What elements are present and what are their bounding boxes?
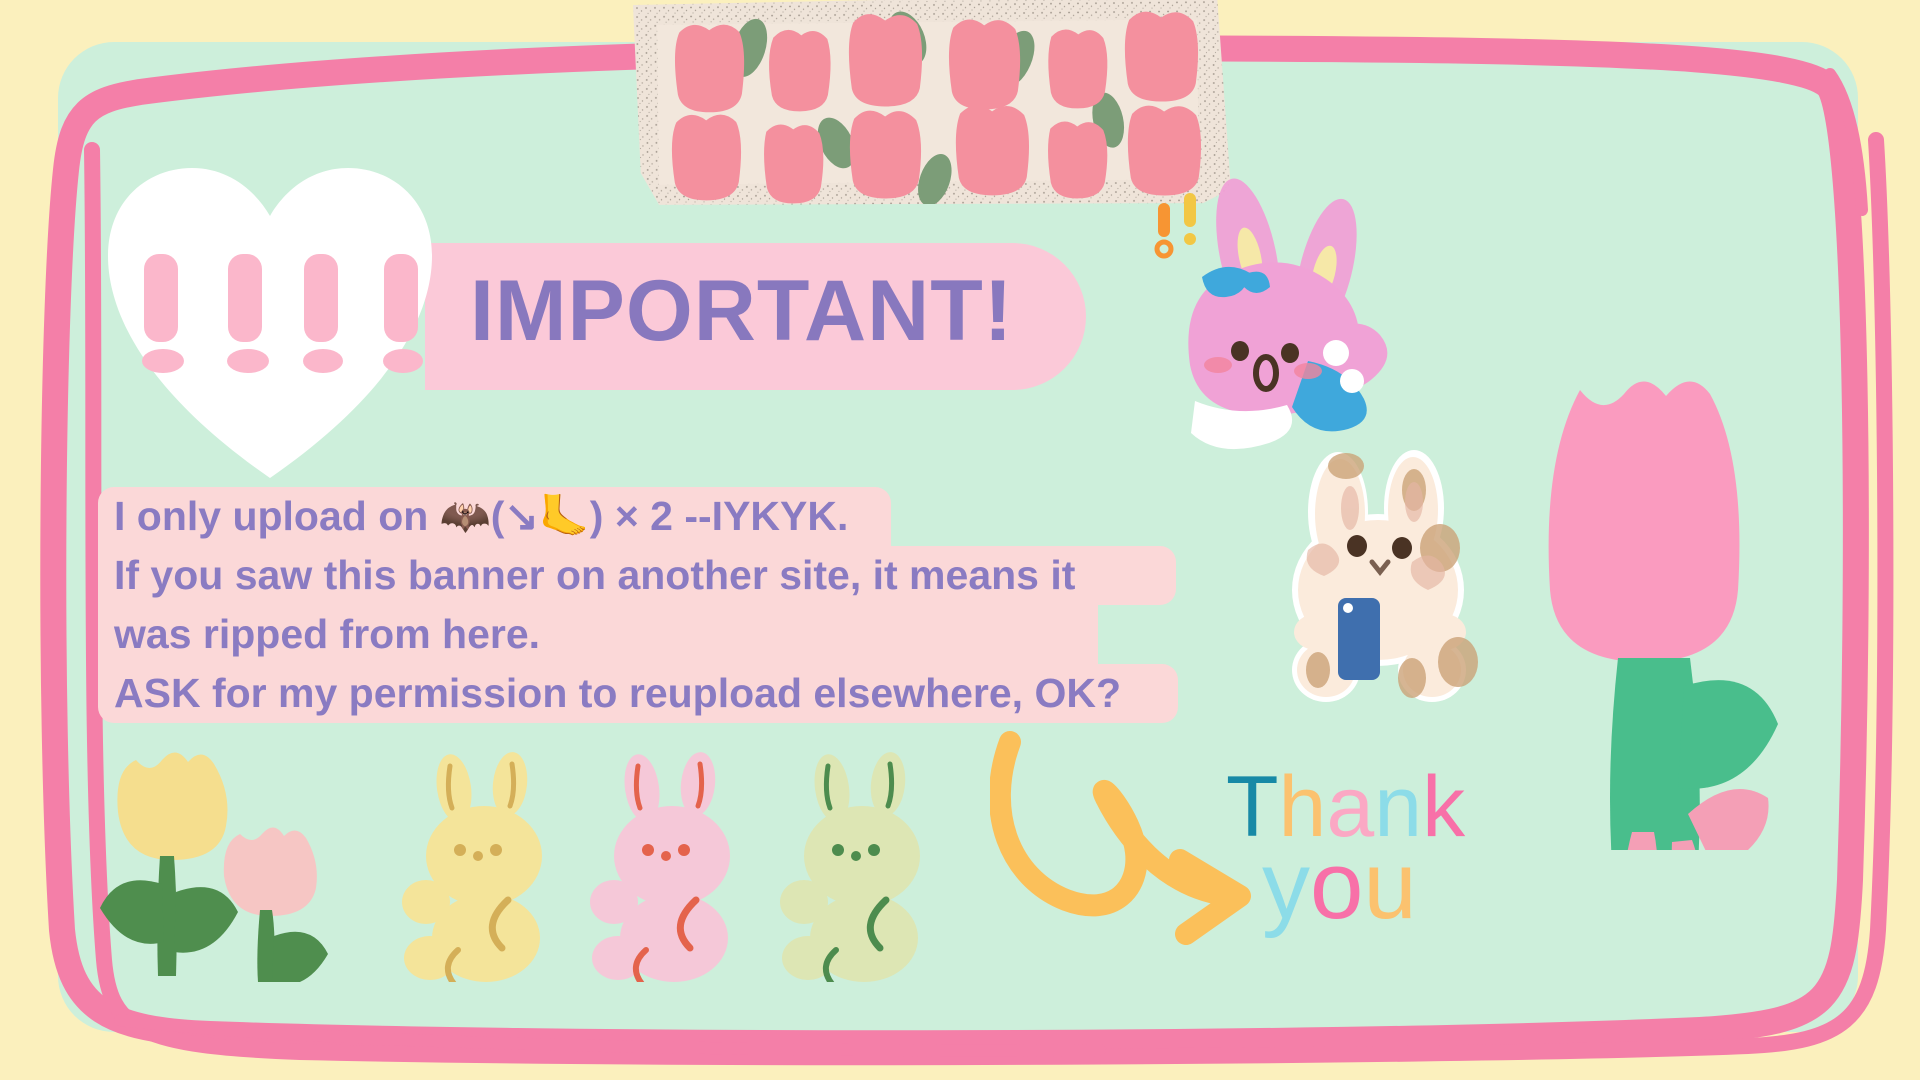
exclamation-marks-icon bbox=[1157, 193, 1196, 256]
ty-letter: k bbox=[1422, 759, 1465, 855]
bunny-green-sticker bbox=[780, 752, 920, 982]
message-line-2: If you saw this banner on another site, … bbox=[98, 546, 1208, 605]
message-line-1: I only upload on 🦇(↘🦶) × 2 --IYKYK. bbox=[98, 487, 1208, 546]
bunny-pink-sticker bbox=[590, 752, 730, 982]
bunny-row bbox=[400, 752, 980, 982]
message-line-3: was ripped from here. bbox=[98, 605, 1208, 664]
ty-letter: u bbox=[1363, 832, 1416, 939]
flying-bunny-sticker bbox=[1140, 165, 1410, 455]
ty-letter: y bbox=[1262, 832, 1310, 939]
white-heart-with-exclamations bbox=[100, 158, 440, 488]
ty-letter: o bbox=[1310, 832, 1363, 939]
bunny-yellow-sticker bbox=[402, 752, 542, 982]
banner-canvas: IMPORTANT! I only upload on 🦇(↘🦶) × 2 --… bbox=[0, 0, 1920, 1080]
message-line-4: ASK for my permission to reupload elsewh… bbox=[98, 664, 1208, 723]
thank-you-row-2: y o u bbox=[1262, 838, 1417, 934]
page-title: IMPORTANT! bbox=[470, 268, 1013, 354]
big-tulip-sticker bbox=[1420, 250, 1800, 850]
message-block: I only upload on 🦇(↘🦶) × 2 --IYKYK. If y… bbox=[98, 487, 1208, 723]
tulip-yellow-sticker bbox=[96, 752, 346, 982]
